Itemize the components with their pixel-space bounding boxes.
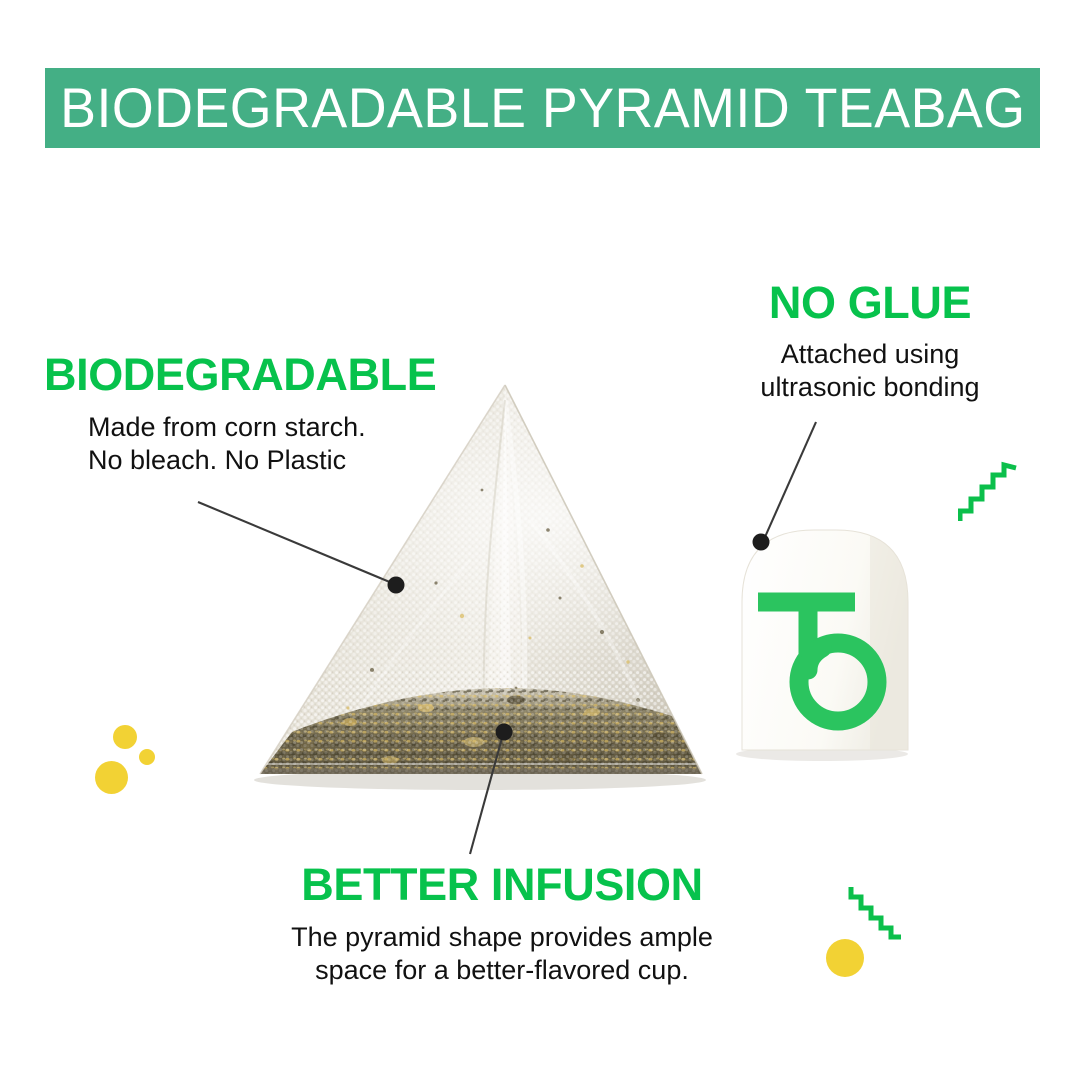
- callout-biodegradable-body-line-1: Made from corn starch.: [88, 411, 436, 444]
- header-banner: BIODEGRADABLE PYRAMID TEABAG: [45, 68, 1040, 148]
- decorative-yellow-dot: [139, 749, 155, 765]
- callout-better-infusion-body-line-1: The pyramid shape provides ample: [268, 921, 736, 954]
- teabag-tag: [742, 494, 910, 760]
- callout-no-glue-body: Attached using ultrasonic bonding: [725, 338, 1015, 404]
- callout-no-glue: NO GLUE Attached using ultrasonic bondin…: [725, 280, 1015, 404]
- callout-better-infusion-body-line-2: space for a better-flavored cup.: [268, 954, 736, 987]
- callout-no-glue-body-line-2: ultrasonic bonding: [725, 371, 1015, 404]
- callout-better-infusion-body: The pyramid shape provides ample space f…: [268, 921, 736, 987]
- callout-biodegradable-title: BIODEGRADABLE: [44, 352, 436, 398]
- callout-biodegradable-body-line-2: No bleach. No Plastic: [88, 444, 436, 477]
- infographic-canvas: BIODEGRADABLE PYRAMID TEABAG: [0, 0, 1080, 1080]
- callout-biodegradable-body: Made from corn starch. No bleach. No Pla…: [44, 411, 436, 477]
- callout-no-glue-title: NO GLUE: [725, 280, 1015, 326]
- callout-better-infusion: BETTER INFUSION The pyramid shape provid…: [268, 862, 736, 987]
- decorative-green-squiggle: [958, 455, 1020, 527]
- callout-no-glue-body-line-1: Attached using: [725, 338, 1015, 371]
- decorative-yellow-dot: [113, 725, 137, 749]
- callout-better-infusion-title: BETTER INFUSION: [268, 862, 736, 908]
- decorative-green-squiggle: [848, 884, 904, 948]
- decorative-yellow-dot: [95, 761, 128, 794]
- page-title: BIODEGRADABLE PYRAMID TEABAG: [60, 80, 1025, 136]
- callout-biodegradable: BIODEGRADABLE Made from corn starch. No …: [44, 352, 436, 477]
